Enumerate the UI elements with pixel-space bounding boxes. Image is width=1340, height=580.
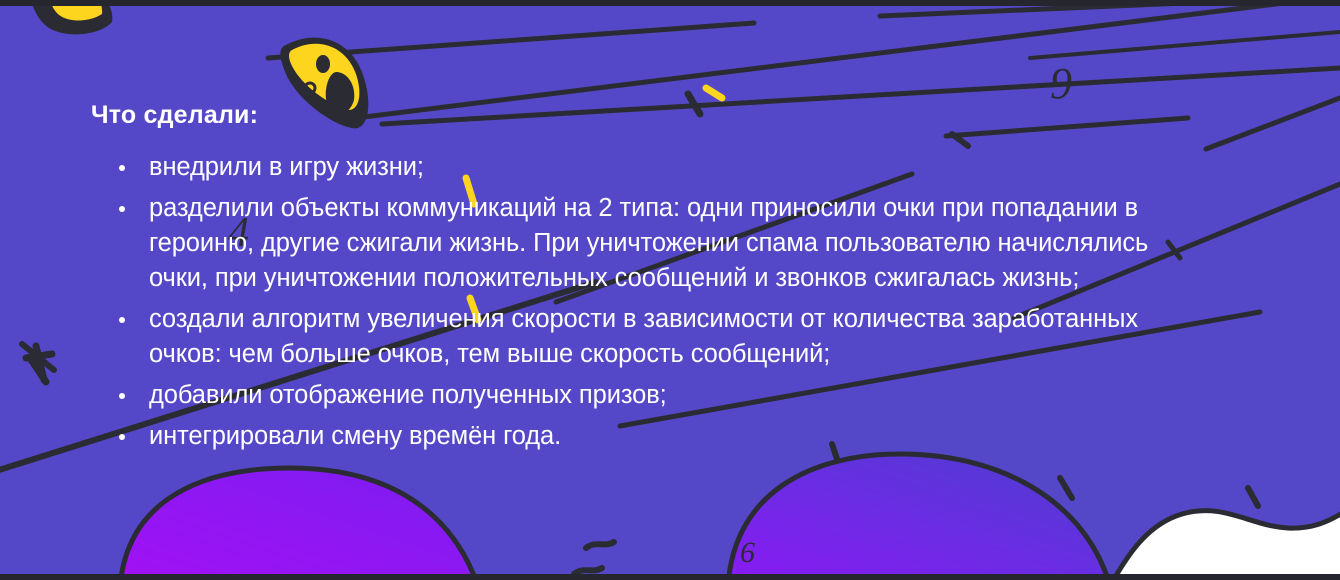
list-item-text: создали алгоритм увеличения скорости в з… — [149, 305, 1138, 368]
list-item-text: интегрировали смену времён года. — [149, 422, 561, 450]
bullet-dot-icon — [119, 206, 125, 212]
slide-content: Что сделали: внедрили в игру жизни; разд… — [0, 6, 1340, 574]
list-item: интегрировали смену времён года. — [113, 419, 1198, 454]
list-item-text: добавили отображение полученных призов; — [149, 381, 667, 409]
page-title: Что сделали: — [91, 101, 258, 130]
bullet-dot-icon — [119, 434, 125, 440]
achievements-list: внедрили в игру жизни; разделили объекты… — [113, 150, 1198, 460]
list-item: создали алгоритм увеличения скорости в з… — [113, 302, 1198, 372]
list-item: внедрили в игру жизни; — [113, 150, 1198, 185]
bullet-dot-icon — [119, 393, 125, 399]
list-item-text: разделили объекты коммуникаций на 2 типа… — [149, 194, 1148, 292]
list-item: добавили отображение полученных призов; — [113, 378, 1198, 413]
bullet-dot-icon — [119, 317, 125, 323]
list-item: разделили объекты коммуникаций на 2 типа… — [113, 191, 1198, 296]
presentation-slide: 9 4 — [0, 0, 1340, 580]
list-item-text: внедрили в игру жизни; — [149, 153, 424, 181]
bullet-dot-icon — [119, 165, 125, 171]
